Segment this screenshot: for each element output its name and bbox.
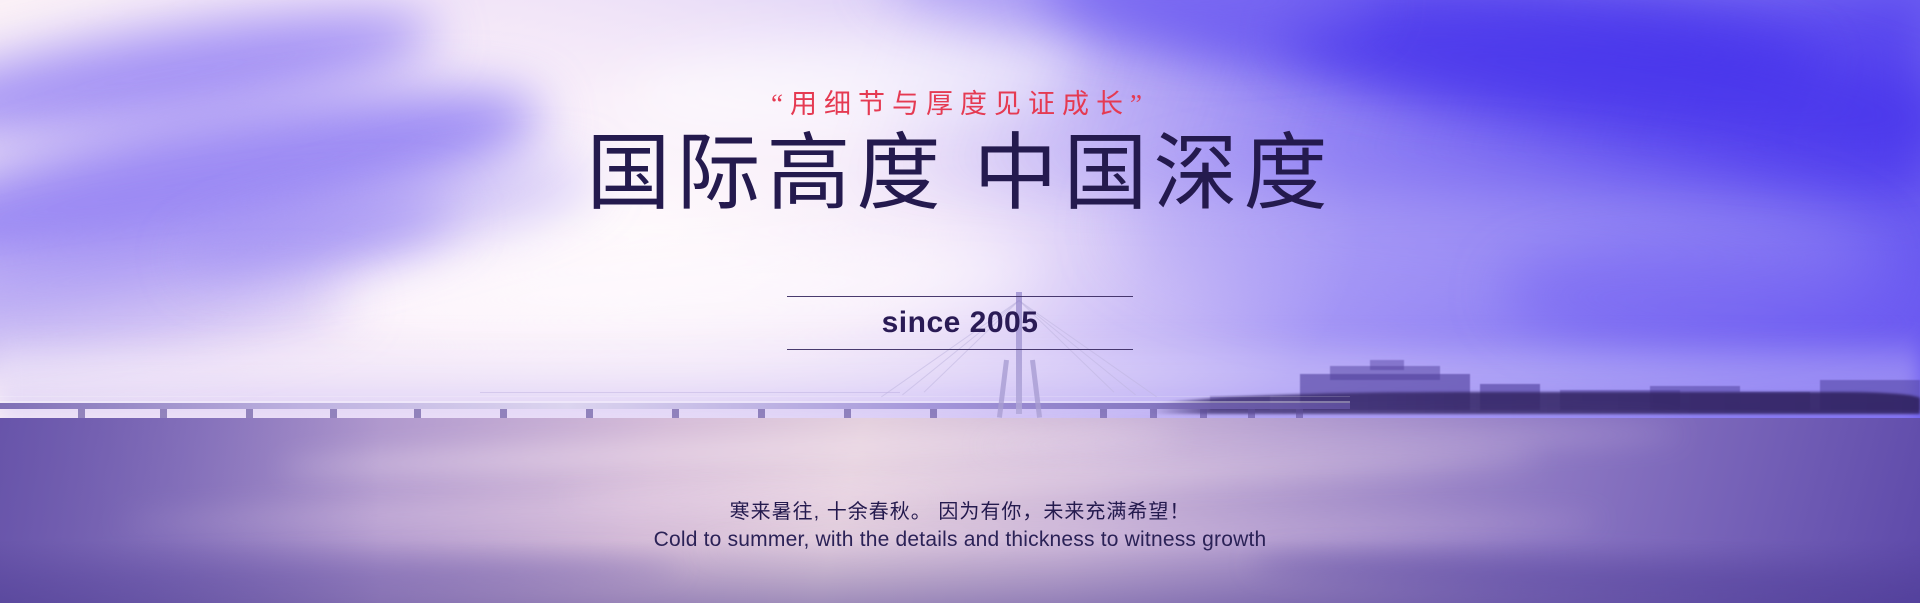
banner-subtitle-cn: 寒来暑往, 十余春秋。 因为有你，未来充满希望！ bbox=[0, 495, 1920, 524]
banner-content: “用细节与厚度见证成长” 国际高度 中国深度 since 2005 寒来暑往, … bbox=[0, 0, 1920, 603]
since-rule-top bbox=[787, 296, 1133, 297]
banner-tagline: “用细节与厚度见证成长” bbox=[0, 82, 1920, 121]
since-label: since 2005 bbox=[787, 297, 1133, 349]
since-rule-bottom bbox=[787, 349, 1133, 350]
since-block: since 2005 bbox=[787, 296, 1133, 350]
hero-banner: “用细节与厚度见证成长” 国际高度 中国深度 since 2005 寒来暑往, … bbox=[0, 0, 1920, 603]
banner-subtitle-en: Cold to summer, with the details and thi… bbox=[0, 528, 1920, 552]
banner-headline: 国际高度 中国深度 bbox=[0, 128, 1920, 222]
